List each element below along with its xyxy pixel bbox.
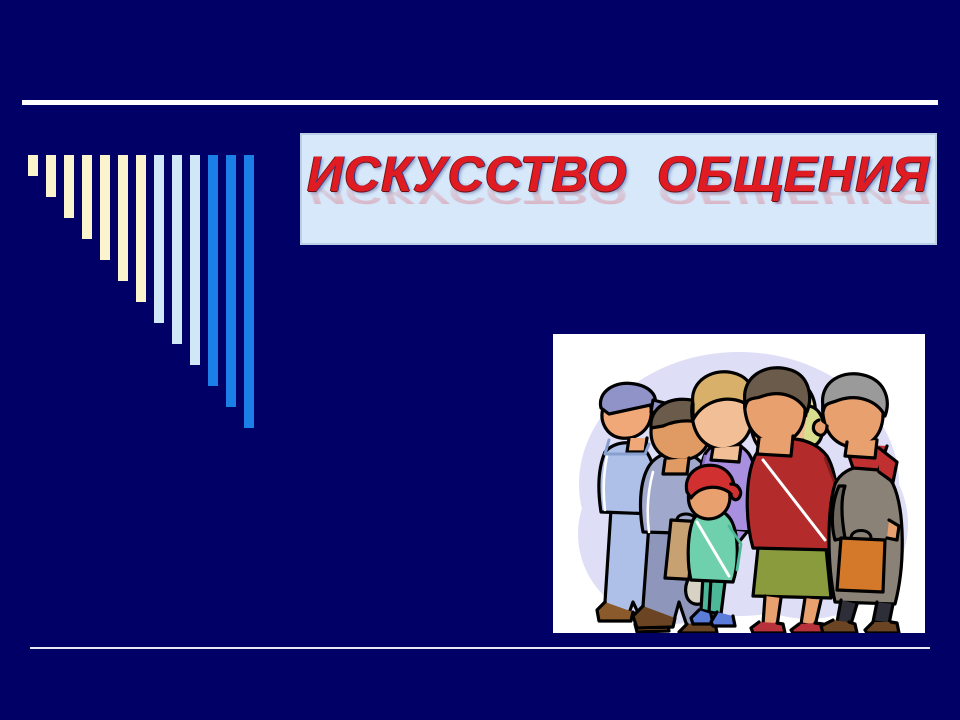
descending-bar-motif	[0, 0, 300, 430]
motif-bar	[154, 155, 164, 323]
motif-bar	[118, 155, 128, 281]
illustration-frame	[553, 334, 925, 633]
motif-bar	[82, 155, 92, 239]
motif-bar	[64, 155, 74, 218]
motif-bar	[190, 155, 200, 365]
page-title: ИСКУССТВО ОБЩЕНИЯ	[302, 149, 935, 199]
bottom-divider-rule	[30, 647, 930, 649]
motif-bar	[28, 155, 38, 176]
motif-bar	[46, 155, 56, 197]
motif-bar	[172, 155, 182, 344]
motif-bar	[226, 155, 236, 407]
motif-bar	[208, 155, 218, 386]
presentation-slide: ИСКУССТВО ОБЩЕНИЯ ИСКУССТВО ОБЩЕНИЯ	[0, 0, 960, 720]
motif-bar	[136, 155, 146, 302]
group-of-people-talking-illustration	[553, 334, 925, 633]
title-panel-inner: ИСКУССТВО ОБЩЕНИЯ ИСКУССТВО ОБЩЕНИЯ	[302, 135, 935, 243]
motif-bar	[244, 155, 254, 428]
object-briefcase	[837, 531, 885, 593]
title-panel: ИСКУССТВО ОБЩЕНИЯ ИСКУССТВО ОБЩЕНИЯ	[300, 133, 937, 245]
motif-bar	[100, 155, 110, 260]
